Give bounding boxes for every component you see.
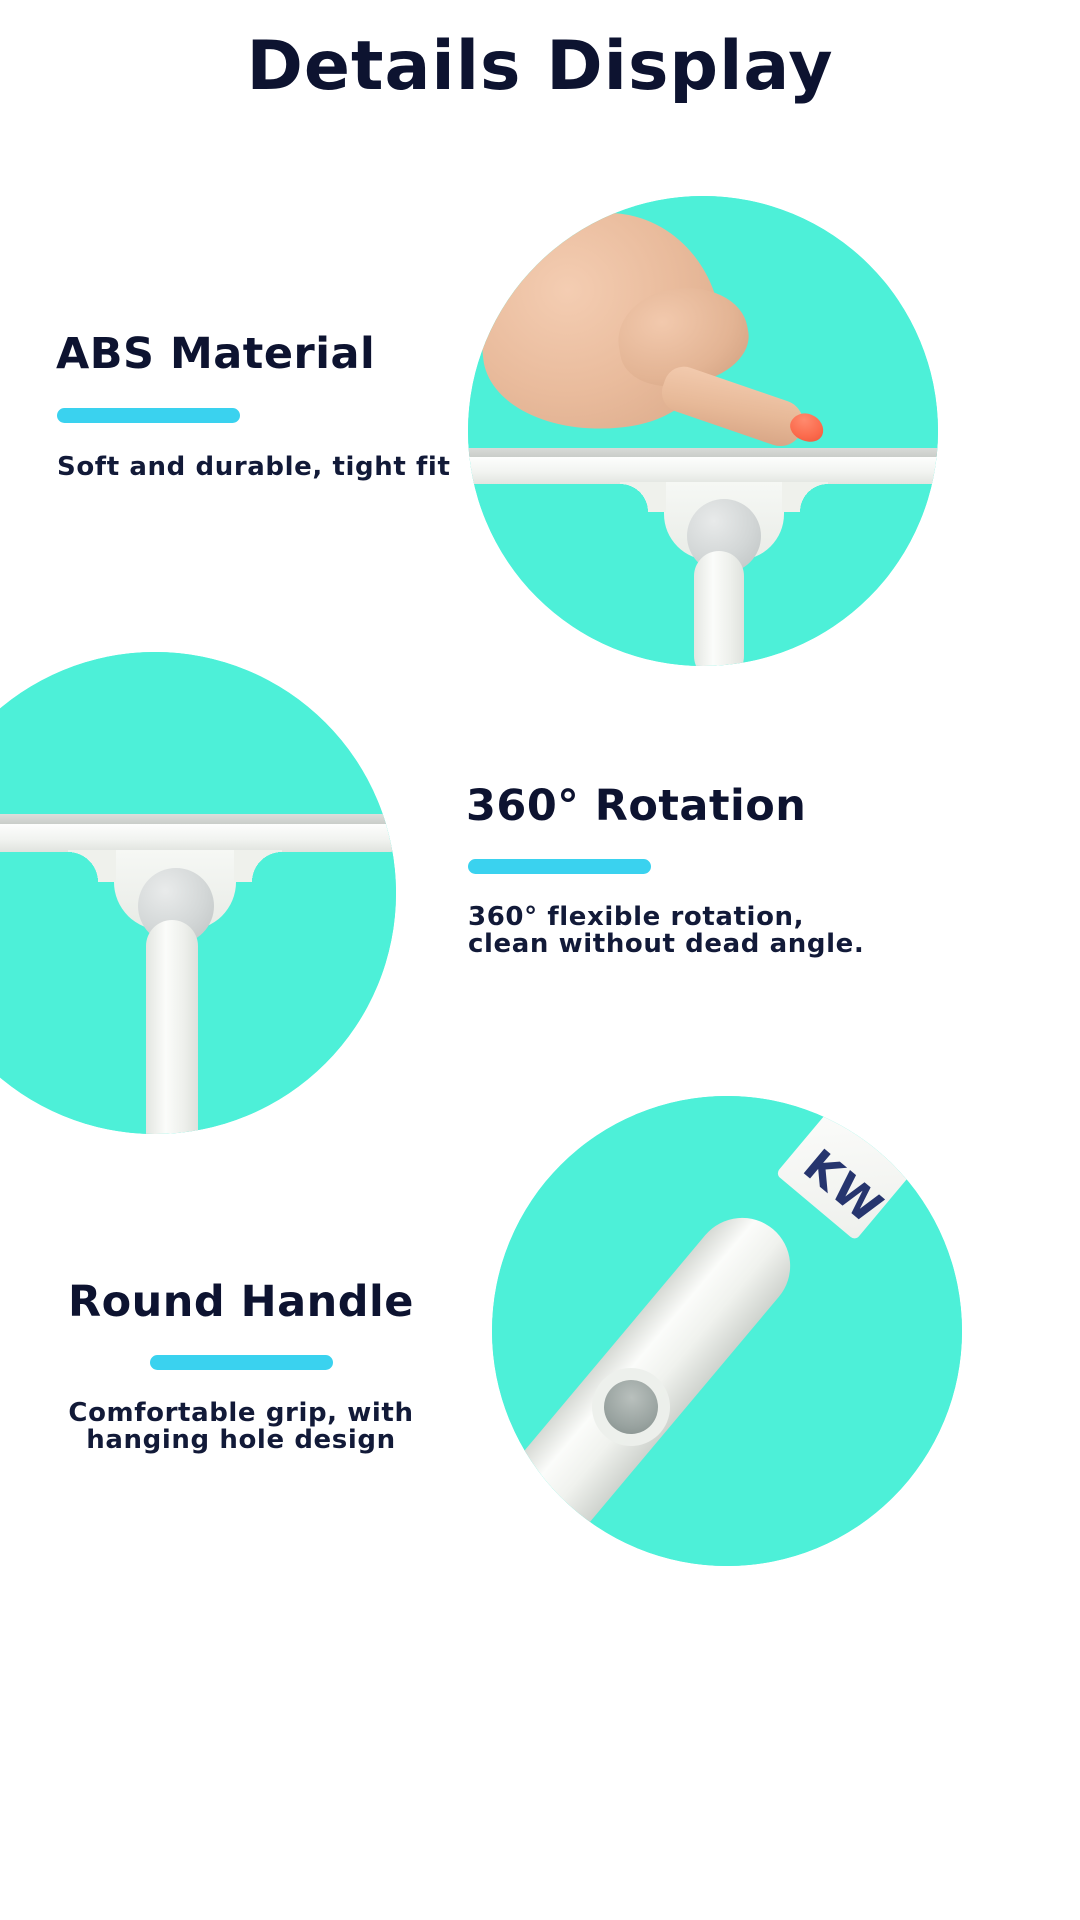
feature-heading-360-rotation: 360° Rotation xyxy=(466,782,896,831)
squeegee-shaft xyxy=(694,551,744,666)
feature-body-round-handle: Comfortable grip, with hanging hole desi… xyxy=(46,1400,436,1454)
page-title: Details Display xyxy=(0,26,1080,108)
feature-heading-abs-material: ABS Material xyxy=(56,330,486,379)
squeegee-shaft xyxy=(146,920,198,1134)
product-photo-360-rotation xyxy=(0,652,396,1134)
squeegee-blade-body xyxy=(468,457,938,484)
feature-body-abs-material: Soft and durable, tight fit xyxy=(57,454,486,481)
feature-heading-round-handle: Round Handle xyxy=(46,1278,436,1327)
product-photo-abs-material xyxy=(468,196,938,666)
product-photo-round-handle: KW xyxy=(492,1096,962,1566)
feature-block-abs-material: ABS Material Soft and durable, tight fit xyxy=(56,330,486,481)
feature-body-360-rotation: 360° flexible rotation, clean without de… xyxy=(468,904,896,958)
feature-block-round-handle: Round Handle Comfortable grip, with hang… xyxy=(46,1278,436,1455)
accent-bar-abs-material xyxy=(57,408,240,423)
squeegee-blade-edge xyxy=(468,448,938,457)
squeegee-blade-edge xyxy=(0,814,396,824)
accent-bar-round-handle xyxy=(150,1355,333,1370)
squeegee-blade-body xyxy=(0,824,396,852)
accent-bar-360-rotation xyxy=(468,859,651,874)
feature-block-360-rotation: 360° Rotation 360° flexible rotation, cl… xyxy=(466,782,896,959)
